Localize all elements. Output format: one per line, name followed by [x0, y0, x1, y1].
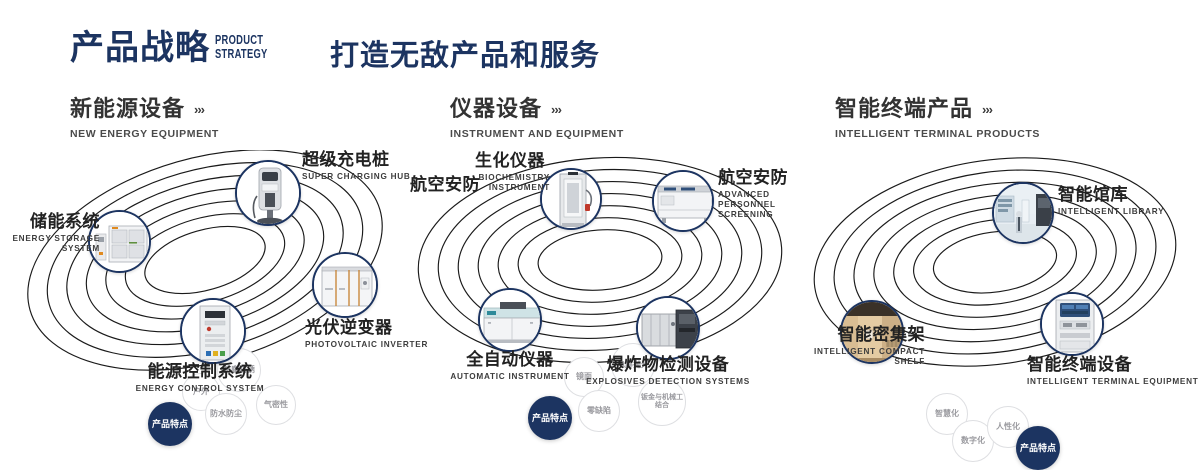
section-head-instrument-zh: 仪器设备 — [450, 96, 542, 122]
caption-intelligent-compact-shelf: 智能密集架 INTELLIGENT COMPACT SHELF — [810, 325, 925, 367]
caption-energy-storage-system-en: ENERGY STORAGE SYSTEM — [0, 234, 100, 254]
page-title-english: PRODUCT STRATEGY — [215, 33, 268, 61]
chevron-right-triple-icon: ››› — [194, 97, 204, 123]
feature-core-product-traits: 产品特点 — [528, 396, 572, 440]
charging-pile-photo — [237, 162, 299, 224]
terminal-kiosk-photo — [1042, 294, 1102, 354]
caption-intelligent-compact-shelf-en: INTELLIGENT COMPACT SHELF — [810, 347, 925, 367]
node-photo-advanced-personnel-screening[interactable] — [652, 170, 714, 232]
caption-energy-storage-system: 储能系统 ENERGY STORAGE SYSTEM — [0, 212, 100, 254]
caption-super-charging-hub-en: SUPER CHARGING HUB — [302, 172, 411, 182]
page-header: 产品战略 PRODUCT STRATEGY 打造无敌产品和服务 — [0, 0, 1200, 90]
explosives-detector-photo — [638, 298, 698, 358]
caption-automatic-instrument-en: AUTOMATIC INSTRUMENT — [430, 372, 590, 382]
caption-intelligent-library-en: INTELLIGENT LIBRARY — [1058, 207, 1164, 217]
section-head-intelligent-terminal-zh: 智能终端产品 — [835, 96, 973, 122]
cluster-instrument-and-equipment: 镜面 电解抛光 零缺陷 钣金与机械工结合 产品特点 航空安防 — [400, 150, 800, 410]
node-photo-explosives-detection-systems[interactable] — [636, 296, 700, 360]
caption-explosives-detection-systems: 爆炸物检测设备 EXPLOSIVES DETECTION SYSTEMS — [578, 355, 758, 387]
section-head-new-energy: 新能源设备 ››› NEW ENERGY EQUIPMENT — [70, 96, 219, 140]
node-photo-intelligent-library[interactable] — [992, 182, 1054, 244]
section-head-new-energy-title: 新能源设备 ››› — [70, 96, 219, 122]
section-head-new-energy-en: NEW ENERGY EQUIPMENT — [70, 128, 219, 140]
feature-bubble-sheetmetal-machining-label: 钣金与机械工结合 — [639, 394, 685, 410]
cluster-intelligent-terminal-products: 智慧化 数字化 人性化 产品特点 — [790, 150, 1190, 410]
caption-explosives-detection-systems-zh: 爆炸物检测设备 — [578, 355, 758, 375]
node-photo-photovoltaic-inverter[interactable] — [312, 252, 378, 318]
caption-energy-storage-system-zh: 储能系统 — [0, 212, 100, 232]
feature-bubble-waterproof-label: 防水防尘 — [210, 410, 242, 419]
caption-energy-control-system-zh: 能源控制系统 — [85, 362, 315, 382]
control-cabinet-photo — [182, 300, 244, 362]
section-head-intelligent-terminal-title: 智能终端产品 ››› — [835, 96, 1040, 122]
page-title-english-line1: PRODUCT — [215, 33, 268, 47]
section-head-instrument-en: INSTRUMENT AND EQUIPMENT — [450, 128, 624, 140]
caption-intelligent-library-zh: 智能馆库 — [1058, 185, 1164, 205]
node-photo-energy-control-system[interactable] — [180, 298, 246, 364]
caption-biochemistry-instrument: 生化仪器 BIOCHEMISTRY INSTRUMENT — [475, 151, 550, 193]
page-headline: 打造无敌产品和服务 — [330, 32, 600, 74]
section-head-intelligent-terminal-en: INTELLIGENT TERMINAL PRODUCTS — [835, 128, 1040, 140]
pv-inverter-cabinet-photo — [314, 254, 376, 316]
caption-super-charging-hub-zh: 超级充电桩 — [302, 150, 411, 170]
caption-aviation-security-left: 航空安防 — [410, 175, 480, 195]
feature-bubble-zero-defect: 零缺陷 — [578, 390, 620, 432]
smart-library-photo — [994, 184, 1052, 242]
node-photo-intelligent-terminal-equipment[interactable] — [1040, 292, 1104, 356]
section-head-instrument-title: 仪器设备 ››› — [450, 96, 624, 122]
page-title-english-line2: STRATEGY — [215, 47, 268, 61]
chevron-right-triple-icon: ››› — [982, 97, 992, 123]
biochemistry-scanner-photo — [542, 170, 600, 228]
caption-intelligent-terminal-equipment-en: INTELLIGENT TERMINAL EQUIPMENT — [1027, 377, 1199, 387]
caption-biochemistry-instrument-en: BIOCHEMISTRY INSTRUMENT — [475, 173, 550, 193]
caption-intelligent-terminal-equipment: 智能终端设备 INTELLIGENT TERMINAL EQUIPMENT — [1027, 355, 1199, 387]
caption-energy-control-system: 能源控制系统 ENERGY CONTROL SYSTEM — [85, 362, 315, 394]
caption-explosives-detection-systems-en: EXPLOSIVES DETECTION SYSTEMS — [578, 377, 758, 387]
caption-super-charging-hub: 超级充电桩 SUPER CHARGING HUB — [302, 150, 411, 182]
feature-core-product-traits-label: 产品特点 — [1020, 443, 1056, 453]
chevron-right-triple-icon: ››› — [551, 97, 561, 123]
caption-biochemistry-instrument-zh: 生化仪器 — [475, 151, 550, 171]
caption-intelligent-library: 智能馆库 INTELLIGENT LIBRARY — [1058, 185, 1164, 217]
caption-intelligent-terminal-equipment-zh: 智能终端设备 — [1027, 355, 1199, 375]
caption-energy-control-system-en: ENERGY CONTROL SYSTEM — [85, 384, 315, 394]
feature-core-product-traits-label: 产品特点 — [152, 419, 188, 429]
screening-machine-photo — [654, 172, 712, 230]
section-head-intelligent-terminal: 智能终端产品 ››› INTELLIGENT TERMINAL PRODUCTS — [835, 96, 1040, 140]
caption-aviation-security-left-zh: 航空安防 — [410, 175, 480, 195]
feature-core-product-traits: 产品特点 — [148, 402, 192, 446]
caption-automatic-instrument-zh: 全自动仪器 — [430, 350, 590, 370]
section-head-new-energy-zh: 新能源设备 — [70, 96, 185, 122]
feature-core-product-traits: 产品特点 — [1016, 426, 1060, 470]
node-photo-super-charging-hub[interactable] — [235, 160, 301, 226]
automatic-analyzer-photo — [480, 290, 540, 350]
section-head-instrument: 仪器设备 ››› INSTRUMENT AND EQUIPMENT — [450, 96, 624, 140]
caption-automatic-instrument: 全自动仪器 AUTOMATIC INSTRUMENT — [430, 350, 590, 382]
caption-intelligent-compact-shelf-zh: 智能密集架 — [810, 325, 925, 345]
page-title: 产品战略 — [70, 28, 210, 68]
feature-bubble-waterproof: 防水防尘 — [205, 393, 247, 435]
node-photo-automatic-instrument[interactable] — [478, 288, 542, 352]
cluster-new-energy-equipment: 户外 防腐防锈 防水防尘 气密性 产品特点 — [0, 150, 400, 410]
